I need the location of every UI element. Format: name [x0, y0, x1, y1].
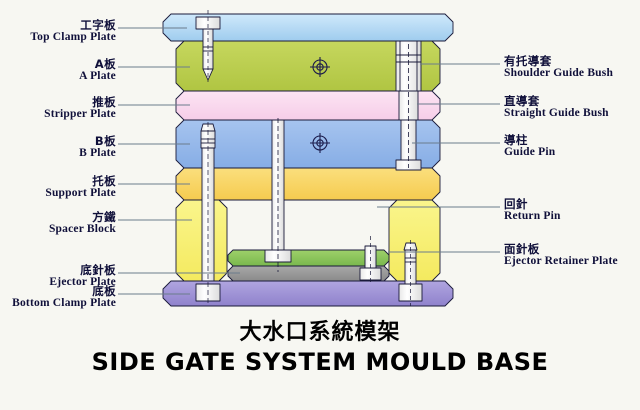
label-stripper-plate-cn: 推板 [0, 96, 116, 108]
label-straight-guide-bush: 直導套 Straight Guide Bush [504, 95, 640, 119]
label-spacer-block-cn: 方鐵 [0, 211, 116, 223]
label-bottom-clamp-plate-en: Bottom Clamp Plate [0, 297, 116, 309]
label-support-plate-cn: 托板 [0, 175, 116, 187]
label-b-plate: B板 B Plate [0, 135, 116, 159]
label-top-clamp-plate-cn: 工字板 [0, 19, 116, 31]
label-top-clamp-plate-en: Top Clamp Plate [0, 31, 116, 43]
label-support-plate-en: Support Plate [0, 187, 116, 199]
diagram-title: 大水口系統模架 SIDE GATE SYSTEM MOULD BASE [0, 314, 640, 376]
label-ejector-retainer-plate: 面針板 Ejector Retainer Plate [504, 243, 640, 267]
label-straight-guide-bush-cn: 直導套 [504, 95, 640, 107]
label-straight-guide-bush-en: Straight Guide Bush [504, 107, 640, 119]
label-ejector-plate-cn: 底針板 [0, 264, 116, 276]
mould-base-diagram: 工字板 Top Clamp Plate A板 A Plate 推板 Stripp… [0, 0, 640, 410]
label-bottom-clamp-plate: 底板 Bottom Clamp Plate [0, 285, 116, 309]
label-spacer-block: 方鐵 Spacer Block [0, 211, 116, 235]
label-bottom-clamp-plate-cn: 底板 [0, 285, 116, 297]
label-ejector-retainer-plate-cn: 面針板 [504, 243, 640, 255]
plate-spacer-block-left [176, 200, 227, 281]
plate-support-plate [176, 168, 440, 200]
label-guide-pin: 導柱 Guide Pin [504, 134, 640, 158]
label-return-pin: 回針 Return Pin [504, 198, 640, 222]
label-shoulder-guide-bush-cn: 有托導套 [504, 55, 640, 67]
label-top-clamp-plate: 工字板 Top Clamp Plate [0, 19, 116, 43]
label-b-plate-cn: B板 [0, 135, 116, 147]
label-b-plate-en: B Plate [0, 147, 116, 159]
label-shoulder-guide-bush: 有托導套 Shoulder Guide Bush [504, 55, 640, 79]
label-support-plate: 托板 Support Plate [0, 175, 116, 199]
title-english: SIDE GATE SYSTEM MOULD BASE [0, 348, 640, 376]
label-shoulder-guide-bush-en: Shoulder Guide Bush [504, 67, 640, 79]
label-return-pin-en: Return Pin [504, 210, 640, 222]
title-chinese: 大水口系統模架 [0, 314, 640, 346]
label-stripper-plate-en: Stripper Plate [0, 108, 116, 120]
label-stripper-plate: 推板 Stripper Plate [0, 96, 116, 120]
label-spacer-block-en: Spacer Block [0, 223, 116, 235]
label-a-plate-cn: A板 [0, 58, 116, 70]
label-guide-pin-en: Guide Pin [504, 146, 640, 158]
label-a-plate: A板 A Plate [0, 58, 116, 82]
label-a-plate-en: A Plate [0, 70, 116, 82]
label-guide-pin-cn: 導柱 [504, 134, 640, 146]
label-ejector-retainer-plate-en: Ejector Retainer Plate [504, 255, 640, 267]
label-return-pin-cn: 回針 [504, 198, 640, 210]
